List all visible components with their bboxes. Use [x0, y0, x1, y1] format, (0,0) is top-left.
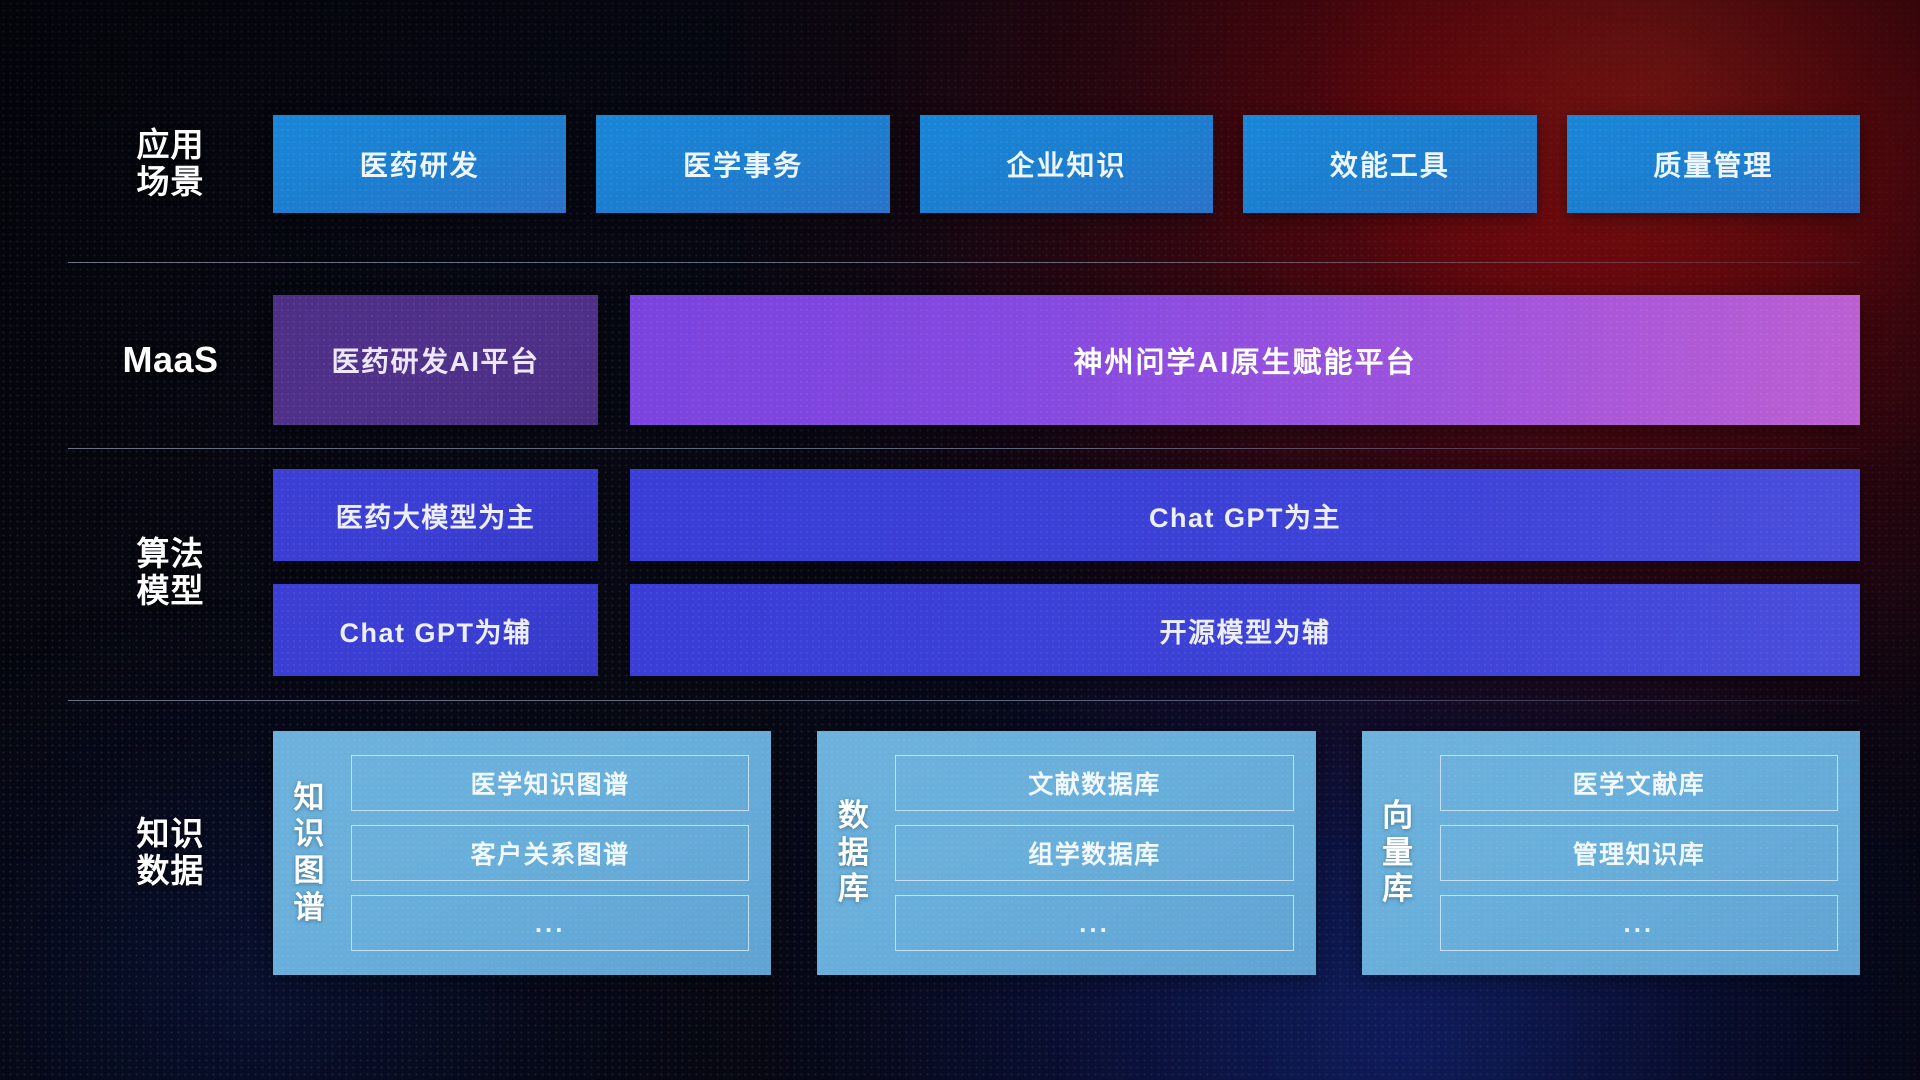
vertical-char: 量 — [1382, 835, 1413, 872]
app-box-label: 医药研发 — [360, 144, 480, 184]
app-box-label: 医学事务 — [683, 144, 803, 184]
row-label-algorithm-line1: 算法 — [68, 536, 273, 573]
maas-left-label: 医药研发AI平台 — [331, 340, 539, 380]
algorithm-tier-secondary: Chat GPT为辅 开源模型为辅 — [273, 584, 1860, 676]
row-label-application-line2: 场景 — [68, 164, 273, 201]
algo-box-opensource-secondary[interactable]: 开源模型为辅 — [630, 584, 1860, 676]
knowledge-item-more[interactable]: ... — [895, 895, 1293, 951]
vertical-char: 向 — [1382, 798, 1413, 835]
row-algorithm-models: 算法 模型 医药大模型为主 Chat GPT为主 Chat GPT为辅 开源模型… — [0, 465, 1920, 680]
maas-right-label: 神州问学AI原生赋能平台 — [1073, 339, 1416, 381]
vertical-char: 库 — [1382, 871, 1413, 908]
row-label-knowledge: 知识 数据 — [68, 816, 273, 890]
row-knowledge-data: 知识 数据 知 识 图 谱 医学知识图谱 客户关系图谱 ... 数 — [0, 728, 1920, 978]
vertical-char: 据 — [838, 835, 869, 872]
vertical-char: 图 — [294, 853, 325, 890]
knowledge-panel-items: 文献数据库 组学数据库 ... — [889, 731, 1315, 975]
row-label-knowledge-line2: 数据 — [68, 853, 273, 890]
knowledge-panels: 知 识 图 谱 医学知识图谱 客户关系图谱 ... 数 据 库 — [273, 731, 1860, 975]
knowledge-panel-vertical-label: 向 量 库 — [1362, 731, 1434, 975]
vertical-char: 谱 — [294, 890, 325, 927]
app-box-drug-rd[interactable]: 医药研发 — [273, 115, 566, 213]
knowledge-item-management-knowledge-store[interactable]: 管理知识库 — [1440, 825, 1838, 881]
algo-box-pharma-llm-primary[interactable]: 医药大模型为主 — [273, 469, 598, 561]
algorithm-tier-primary: 医药大模型为主 Chat GPT为主 — [273, 469, 1860, 561]
knowledge-item-more[interactable]: ... — [351, 895, 749, 951]
app-box-label: 企业知识 — [1007, 144, 1127, 184]
algo-box-chatgpt-primary[interactable]: Chat GPT为主 — [630, 469, 1860, 561]
app-box-quality-management[interactable]: 质量管理 — [1567, 115, 1860, 213]
row-label-algorithm-line2: 模型 — [68, 573, 273, 610]
algo-box-chatgpt-secondary[interactable]: Chat GPT为辅 — [273, 584, 598, 676]
application-boxes: 医药研发 医学事务 企业知识 效能工具 质量管理 — [273, 115, 1860, 213]
algo-right-label: 开源模型为辅 — [1160, 611, 1331, 650]
knowledge-item-omics-database[interactable]: 组学数据库 — [895, 825, 1293, 881]
knowledge-item-customer-relation-graph[interactable]: 客户关系图谱 — [351, 825, 749, 881]
row-maas: MaaS 医药研发AI平台 神州问学AI原生赋能平台 — [0, 290, 1920, 430]
row-application-scenarios: 应用 场景 医药研发 医学事务 企业知识 效能工具 质量管理 — [0, 105, 1920, 223]
maas-boxes: 医药研发AI平台 神州问学AI原生赋能平台 — [273, 295, 1860, 425]
divider-algorithm-knowledge — [68, 700, 1860, 701]
row-label-knowledge-line1: 知识 — [68, 816, 273, 853]
knowledge-panel-vertical-label: 数 据 库 — [817, 731, 889, 975]
knowledge-panel-items: 医学文献库 管理知识库 ... — [1434, 731, 1860, 975]
algo-left-label: 医药大模型为主 — [336, 496, 536, 535]
row-label-application: 应用 场景 — [68, 127, 273, 201]
knowledge-item-more[interactable]: ... — [1440, 895, 1838, 951]
knowledge-item-medical-knowledge-graph[interactable]: 医学知识图谱 — [351, 755, 749, 811]
knowledge-item-literature-database[interactable]: 文献数据库 — [895, 755, 1293, 811]
knowledge-item-medical-literature-store[interactable]: 医学文献库 — [1440, 755, 1838, 811]
vertical-char: 库 — [838, 871, 869, 908]
row-label-maas: MaaS — [68, 340, 273, 380]
divider-maas-algorithm — [68, 448, 1860, 449]
vertical-char: 识 — [294, 816, 325, 853]
algo-right-label: Chat GPT为主 — [1149, 496, 1341, 535]
app-box-efficiency-tools[interactable]: 效能工具 — [1243, 115, 1536, 213]
knowledge-panel-knowledge-graph[interactable]: 知 识 图 谱 医学知识图谱 客户关系图谱 ... — [273, 731, 771, 975]
architecture-diagram: 应用 场景 医药研发 医学事务 企业知识 效能工具 质量管理 MaaS 医药研发… — [0, 0, 1920, 1080]
knowledge-panel-vertical-label: 知 识 图 谱 — [273, 731, 345, 975]
vertical-char: 数 — [838, 798, 869, 835]
knowledge-panel-items: 医学知识图谱 客户关系图谱 ... — [345, 731, 771, 975]
app-box-enterprise-knowledge[interactable]: 企业知识 — [920, 115, 1213, 213]
divider-application-maas — [68, 262, 1860, 263]
app-box-label: 效能工具 — [1330, 144, 1450, 184]
vertical-char: 知 — [294, 780, 325, 817]
app-box-medical-affairs[interactable]: 医学事务 — [596, 115, 889, 213]
algo-left-label: Chat GPT为辅 — [339, 611, 531, 650]
knowledge-panel-vector-store[interactable]: 向 量 库 医学文献库 管理知识库 ... — [1362, 731, 1860, 975]
maas-box-drug-rd-ai-platform[interactable]: 医药研发AI平台 — [273, 295, 598, 425]
row-label-application-line1: 应用 — [68, 127, 273, 164]
app-box-label: 质量管理 — [1653, 144, 1773, 184]
row-label-algorithm: 算法 模型 — [68, 536, 273, 610]
maas-box-shenzhou-wenxue-platform[interactable]: 神州问学AI原生赋能平台 — [630, 295, 1860, 425]
knowledge-panel-database[interactable]: 数 据 库 文献数据库 组学数据库 ... — [817, 731, 1315, 975]
algorithm-tiers: 医药大模型为主 Chat GPT为主 Chat GPT为辅 开源模型为辅 — [273, 469, 1860, 676]
